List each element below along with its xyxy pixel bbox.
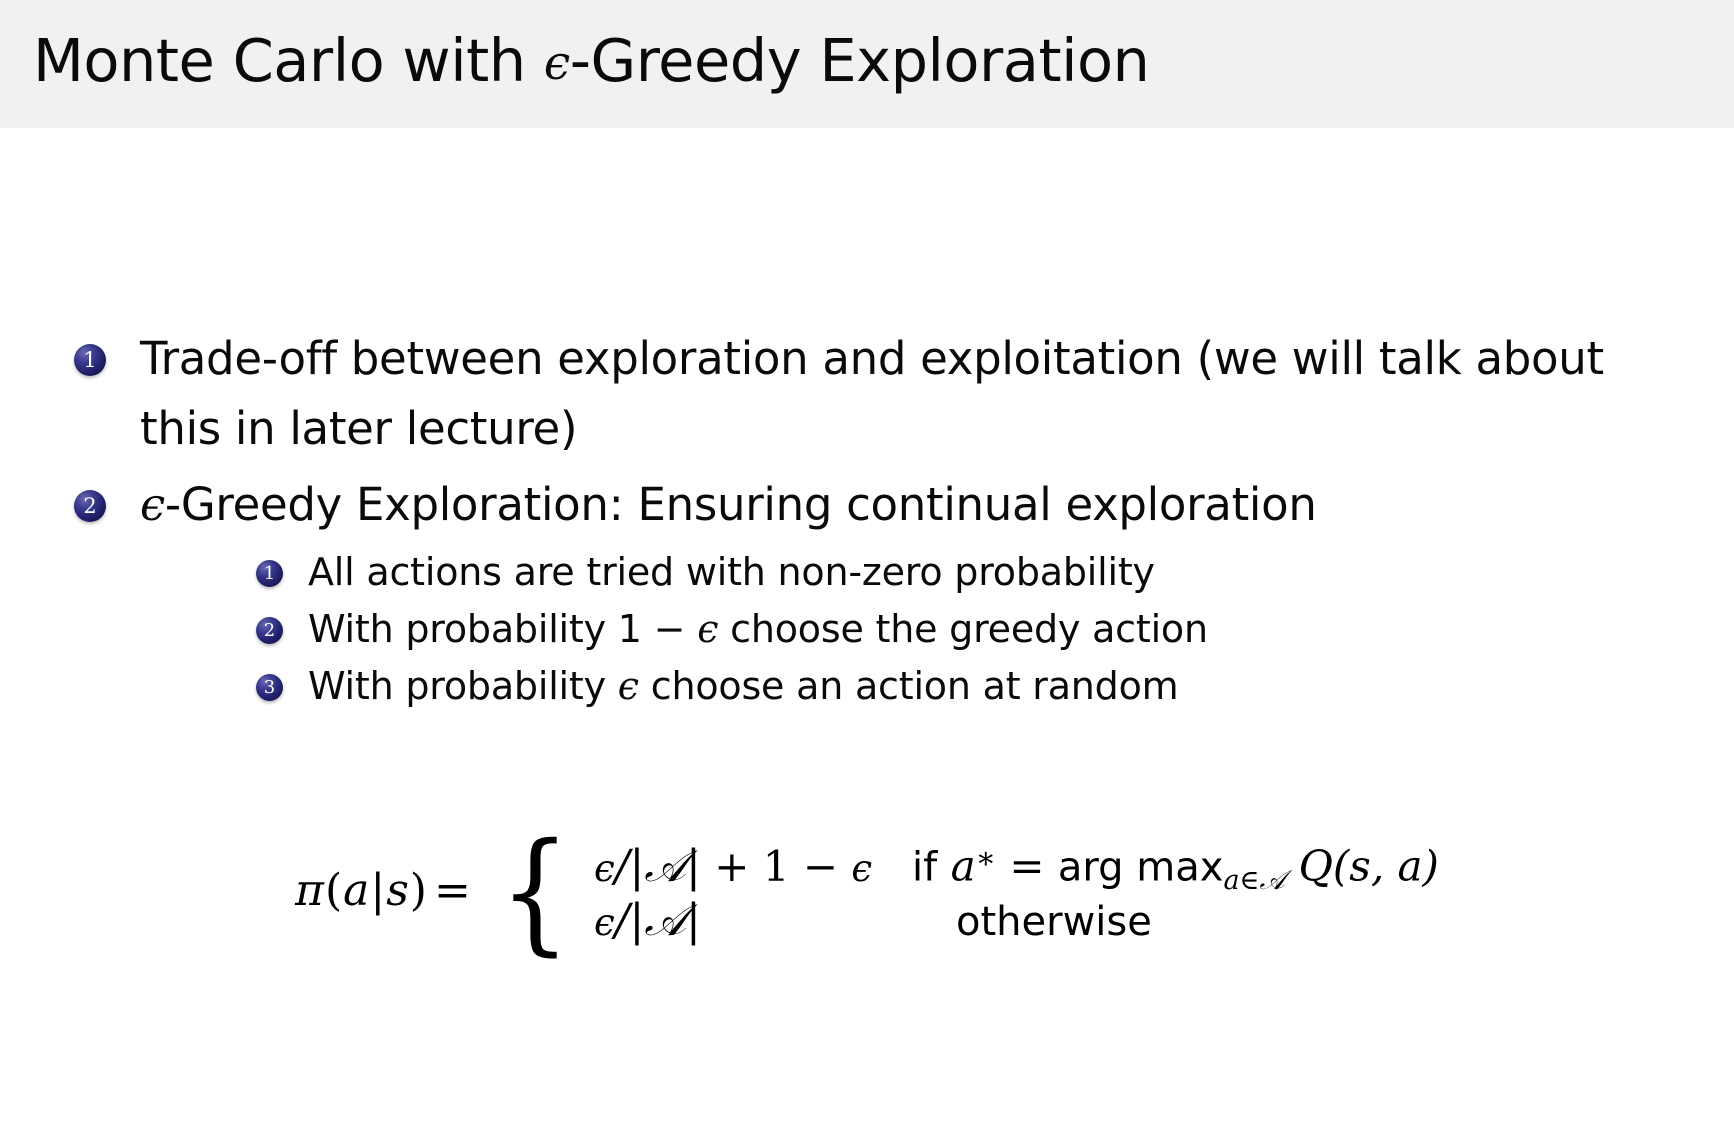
epsilon-symbol: ϵ: [140, 478, 165, 531]
cardinality-bar: |: [686, 895, 701, 946]
list-item: 1 Trade-off between exploration and expl…: [66, 324, 1706, 464]
cases-row-1: ϵ/|𝒜| + 1 − ϵif a∗ = arg maxa∈𝒜 Q(s, a): [594, 828, 1439, 890]
list-item-label: Trade-off between exploration and exploi…: [140, 332, 1604, 455]
q-function-symbol: Q: [1298, 842, 1332, 891]
enumerate-ball-1-icon: 1: [74, 344, 106, 376]
slide-title-prefix: Monte Carlo with: [33, 26, 544, 95]
slide-title-suffix: -Greedy Exploration: [570, 26, 1150, 95]
sublist-item: 2 With probability 1 − ϵ choose the gree…: [250, 601, 1706, 658]
sublist-item-label: All actions are tried with non-zero prob…: [308, 550, 1155, 594]
equals-sign: =: [428, 865, 478, 916]
argmax-subscript: a∈𝒜: [1223, 865, 1285, 896]
equation-left-hand-side: π(a|s)=: [295, 865, 488, 916]
sublist-text-part-b: choose an action at random: [651, 664, 1179, 708]
epsilon-symbol: ϵ: [618, 664, 639, 708]
cases-brace-icon: {: [499, 841, 570, 944]
argmax-operator: arg max: [1058, 845, 1224, 891]
minus-symbol: −: [654, 607, 686, 651]
enumerate-subball-2-icon: 2: [256, 617, 283, 644]
equation-inner: π(a|s)= { ϵ/|𝒜| + 1 − ϵif a∗ = arg maxa∈…: [295, 828, 1439, 952]
slide-header-bar: Monte Carlo with ϵ-Greedy Exploration: [0, 0, 1734, 128]
enumerate-subball-3-icon: 3: [256, 674, 283, 701]
list-item-label: ϵ-Greedy Exploration: Ensuring continual…: [140, 478, 1317, 531]
minus-sign: −: [803, 842, 838, 891]
policy-equation: π(a|s)= { ϵ/|𝒜| + 1 − ϵif a∗ = arg maxa∈…: [0, 828, 1734, 952]
enumerate-ball-2-icon: 2: [74, 490, 106, 522]
slide-title-epsilon-symbol: ϵ: [544, 36, 570, 91]
calligraphic-a-symbol: 𝒜: [644, 895, 686, 946]
cardinality-bar: |: [686, 841, 701, 892]
list-item-line-2: this in later lecture): [140, 402, 577, 455]
epsilon-symbol: ϵ: [594, 847, 615, 890]
enumerate-subball-1-icon: 1: [256, 560, 283, 587]
list-item-text: -Greedy Exploration: Ensuring continual …: [165, 478, 1317, 531]
cases-block: ϵ/|𝒜| + 1 − ϵif a∗ = arg maxa∈𝒜 Q(s, a) …: [582, 828, 1439, 952]
sublist-item: 3 With probability ϵ choose an action at…: [250, 658, 1706, 715]
list-item: 2 ϵ-Greedy Exploration: Ensuring continu…: [66, 470, 1706, 715]
cases-row-2-condition: otherwise: [912, 890, 1152, 953]
slash-bar: /|: [615, 895, 645, 946]
sublist-item-label: With probability 1 − ϵ choose the greedy…: [308, 607, 1208, 651]
otherwise-keyword: otherwise: [956, 899, 1152, 945]
sublist-text-part-a: With probability 1: [308, 607, 642, 651]
number-one: 1: [763, 842, 790, 891]
optimal-action-a: a: [951, 842, 976, 891]
calligraphic-a-symbol: 𝒜: [644, 841, 686, 892]
slash-bar: /|: [615, 841, 645, 892]
sublist-item: 1 All actions are tried with non-zero pr…: [250, 544, 1706, 601]
epsilon-symbol: ϵ: [697, 607, 718, 651]
epsilon-symbol: ϵ: [594, 901, 615, 944]
paren-open: (: [325, 865, 343, 916]
star-superscript: ∗: [976, 841, 996, 876]
epsilon-symbol-2: ϵ: [851, 847, 872, 890]
variable-s: s: [386, 865, 410, 916]
sublist-item-label: With probability ϵ choose an action at r…: [308, 664, 1178, 708]
equals-sign-2: =: [1009, 842, 1044, 891]
sublist-text-part-a: With probability: [308, 664, 606, 708]
if-keyword: if: [912, 845, 937, 891]
slide-title: Monte Carlo with ϵ-Greedy Exploration: [33, 24, 1149, 103]
outline-sublist: 1 All actions are tried with non-zero pr…: [250, 544, 1706, 715]
conditional-bar: |: [370, 865, 386, 916]
pi-symbol: π: [295, 865, 325, 916]
plus-sign: +: [714, 842, 749, 891]
list-item-line-1: Trade-off between exploration and exploi…: [140, 332, 1604, 385]
variable-a: a: [343, 865, 370, 916]
sublist-text-part-b: choose the greedy action: [730, 607, 1208, 651]
slide-content: 1 Trade-off between exploration and expl…: [0, 128, 1734, 1126]
cases-row-2-value: ϵ/|𝒜|: [594, 890, 912, 954]
outline-list: 1 Trade-off between exploration and expl…: [66, 324, 1706, 721]
paren-close: ): [410, 865, 428, 916]
q-function-arguments: (s, a): [1333, 842, 1439, 891]
